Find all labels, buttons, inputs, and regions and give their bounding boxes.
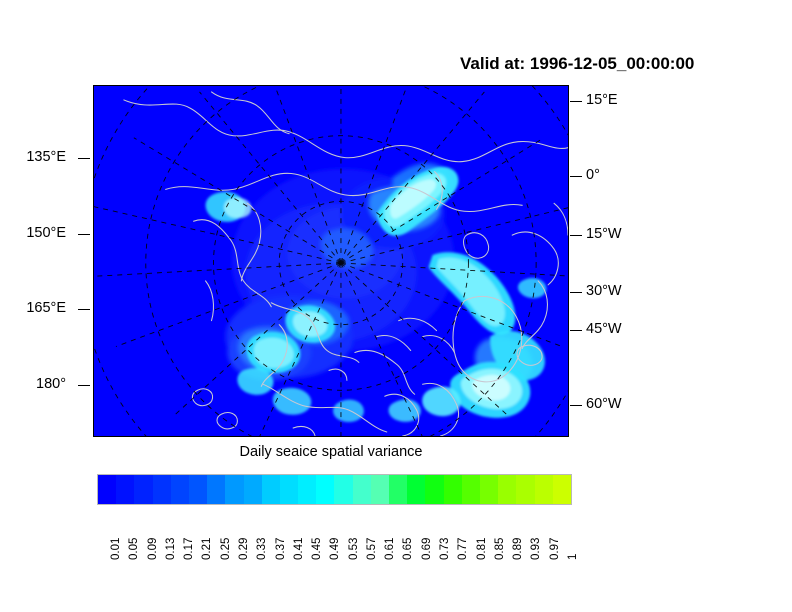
colorbar-band-19 xyxy=(444,475,462,504)
colorbar-band-17 xyxy=(407,475,425,504)
tick-right-4 xyxy=(570,330,582,331)
colorbar-band-12 xyxy=(316,475,334,504)
colorbar-tick-7: 0.29 xyxy=(238,538,250,560)
axis-label-right-0: 15°E xyxy=(586,92,618,108)
colorbar-tick-0: 0.01 xyxy=(110,538,122,560)
colorbar-band-14 xyxy=(353,475,371,504)
colorbar-band-2 xyxy=(134,475,152,504)
colorbar-tick-15: 0.61 xyxy=(384,538,396,560)
colorbar-band-1 xyxy=(116,475,134,504)
tick-right-0 xyxy=(570,101,582,102)
map-svg xyxy=(94,86,568,436)
tick-left-0 xyxy=(78,158,90,159)
colorbar-band-5 xyxy=(189,475,207,504)
colorbar-band-6 xyxy=(207,475,225,504)
colorbar-tick-22: 0.89 xyxy=(512,538,524,560)
axis-label-left-2: 165°E xyxy=(26,300,66,316)
colorbar-tick-1: 0.05 xyxy=(128,538,140,560)
colorbar-tick-11: 0.45 xyxy=(311,538,323,560)
colorbar-tick-4: 0.17 xyxy=(183,538,195,560)
colorbar-band-11 xyxy=(298,475,316,504)
axis-label-right-2: 15°W xyxy=(586,226,622,242)
colorbar-tick-23: 0.93 xyxy=(530,538,542,560)
colorbar-band-8 xyxy=(244,475,262,504)
colorbar-tick-labels: 0.010.050.090.130.170.210.250.290.330.37… xyxy=(97,508,572,566)
colorbar-tick-8: 0.33 xyxy=(256,538,268,560)
colorbar-tick-19: 0.77 xyxy=(457,538,469,560)
axis-label-right-5: 60°W xyxy=(586,396,622,412)
colorbar-tick-6: 0.25 xyxy=(220,538,232,560)
page-title: Valid at: 1996-12-05_00:00:00 xyxy=(460,54,770,74)
tick-right-5 xyxy=(570,405,582,406)
tick-right-3 xyxy=(570,292,582,293)
colorbar-tick-18: 0.73 xyxy=(439,538,451,560)
tick-right-1 xyxy=(570,176,582,177)
colorbar-tick-25: 1 xyxy=(567,554,579,560)
axis-label-right-1: 0° xyxy=(586,167,600,183)
colorbar-tick-3: 0.13 xyxy=(165,538,177,560)
tick-left-3 xyxy=(78,385,90,386)
colorbar-band-7 xyxy=(225,475,243,504)
colorbar-band-4 xyxy=(171,475,189,504)
colorbar-band-24 xyxy=(535,475,553,504)
colorbar-band-16 xyxy=(389,475,407,504)
colorbar-band-9 xyxy=(262,475,280,504)
axis-label-left-1: 150°E xyxy=(26,225,66,241)
colorbar-tick-17: 0.69 xyxy=(421,538,433,560)
map-plot-area[interactable] xyxy=(93,85,569,437)
colorbar-tick-24: 0.97 xyxy=(549,538,561,560)
colorbar-tick-10: 0.41 xyxy=(293,538,305,560)
colorbar-band-0 xyxy=(98,475,116,504)
colorbar-tick-9: 0.37 xyxy=(275,538,287,560)
colorbar-tick-2: 0.09 xyxy=(147,538,159,560)
colorbar-tick-14: 0.57 xyxy=(366,538,378,560)
axis-label-right-3: 30°W xyxy=(586,283,622,299)
colorbar-caption: Daily seaice spatial variance xyxy=(93,444,569,460)
colorbar-band-22 xyxy=(498,475,516,504)
colorbar[interactable] xyxy=(97,474,572,505)
colorbar-band-20 xyxy=(462,475,480,504)
colorbar-tick-16: 0.65 xyxy=(402,538,414,560)
colorbar-band-18 xyxy=(425,475,443,504)
colorbar-band-15 xyxy=(371,475,389,504)
axis-label-right-4: 45°W xyxy=(586,321,622,337)
tick-left-1 xyxy=(78,234,90,235)
colorbar-tick-5: 0.21 xyxy=(201,538,213,560)
axis-label-left-3: 180° xyxy=(36,376,66,392)
colorbar-tick-13: 0.53 xyxy=(348,538,360,560)
colorbar-band-25 xyxy=(553,475,571,504)
colorbar-band-10 xyxy=(280,475,298,504)
tick-left-2 xyxy=(78,309,90,310)
colorbar-tick-20: 0.81 xyxy=(476,538,488,560)
colorbar-tick-21: 0.85 xyxy=(494,538,506,560)
axis-label-left-0: 135°E xyxy=(26,149,66,165)
colorbar-band-13 xyxy=(334,475,352,504)
colorbar-band-3 xyxy=(153,475,171,504)
colorbar-band-21 xyxy=(480,475,498,504)
figure-canvas: Valid at: 1996-12-05_00:00:00 xyxy=(0,0,792,612)
colorbar-tick-12: 0.49 xyxy=(329,538,341,560)
tick-right-2 xyxy=(570,235,582,236)
colorbar-gradient[interactable] xyxy=(97,474,572,505)
colorbar-band-23 xyxy=(516,475,534,504)
